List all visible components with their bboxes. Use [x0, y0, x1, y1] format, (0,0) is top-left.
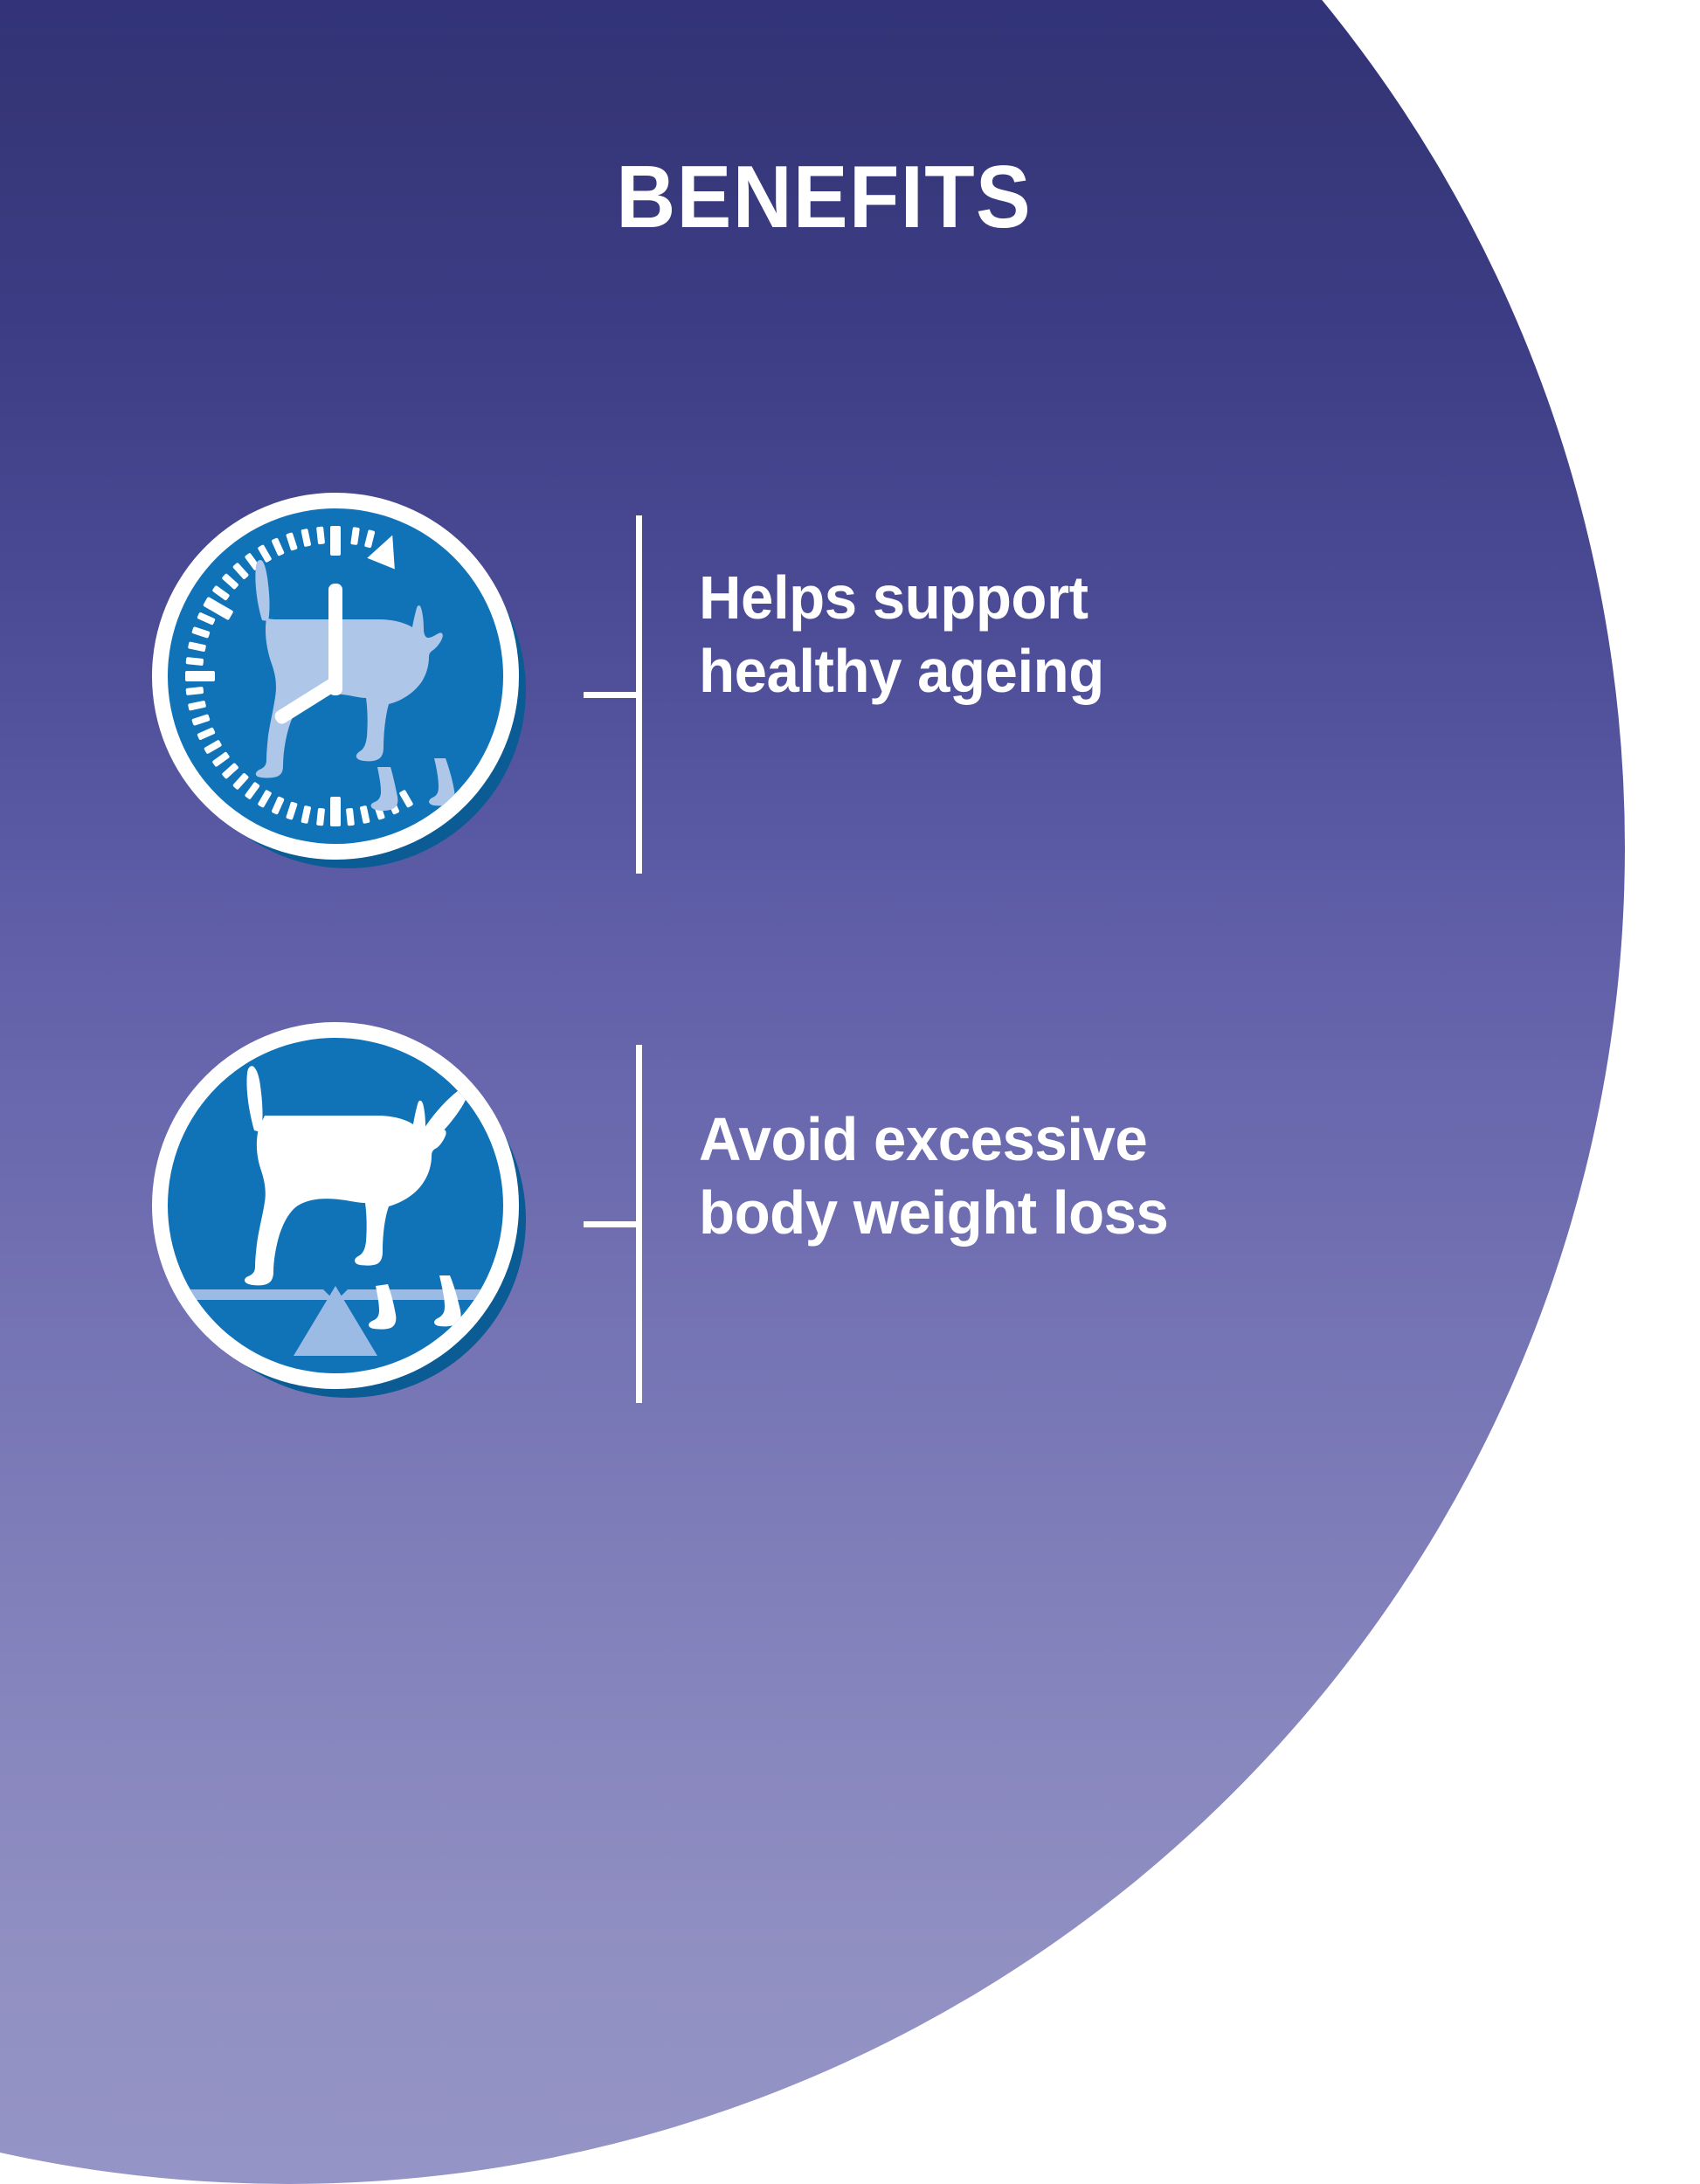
divider-tick-2: [584, 1221, 638, 1227]
divider-line-1: [636, 515, 642, 874]
benefits-panel: BENEFITS: [0, 0, 1700, 1700]
benefit-label-1: Helps support healthy ageing: [699, 561, 1104, 708]
cat-balance-scale-icon: [168, 1038, 503, 1373]
benefit-icon-2: [149, 1019, 542, 1412]
cat-silhouette: [255, 560, 454, 811]
benefit-label-2: Avoid excessive body weight loss: [699, 1102, 1168, 1249]
clock-cat-icon: [168, 508, 503, 844]
divider-line-2: [636, 1045, 642, 1403]
benefit-icon-1: [149, 489, 542, 882]
page-title: BENEFITS: [33, 154, 1614, 242]
divider-tick-1: [584, 692, 638, 698]
